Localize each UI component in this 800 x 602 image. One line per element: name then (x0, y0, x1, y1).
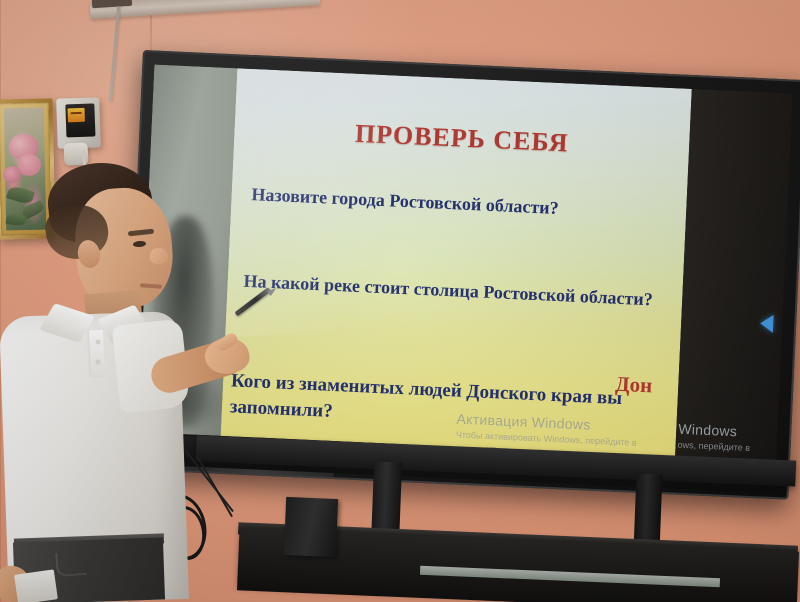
shirt-button (96, 360, 100, 364)
classroom-presentation-photo: ПРОВЕРЬ СЕБЯ Назовите города Ростовской … (0, 0, 800, 602)
shirt-button (96, 340, 100, 344)
watermark-line-overflow: ows, перейдите в (677, 439, 792, 458)
media-player-box (284, 497, 338, 557)
windows-activation-watermark-overflow: Windows ows, перейдите в (677, 421, 792, 458)
nose (150, 248, 168, 264)
screen-letterbox-area: Windows ows, перейдите в (675, 89, 793, 461)
student-presenter (0, 0, 260, 602)
slide-question-1: Назовите города Ростовской области? (251, 183, 672, 225)
presentation-slide[interactable]: ПРОВЕРЬ СЕБЯ Назовите города Ростовской … (221, 68, 692, 456)
slide-question-2: На какой реке стоит столица Ростовской о… (243, 269, 674, 313)
shirt-placket (89, 330, 105, 377)
held-paper (14, 569, 58, 602)
slide-previous-arrow[interactable] (760, 314, 774, 333)
slide-title: ПРОВЕРЬ СЕБЯ (234, 113, 690, 164)
jeans-pocket (55, 551, 87, 577)
